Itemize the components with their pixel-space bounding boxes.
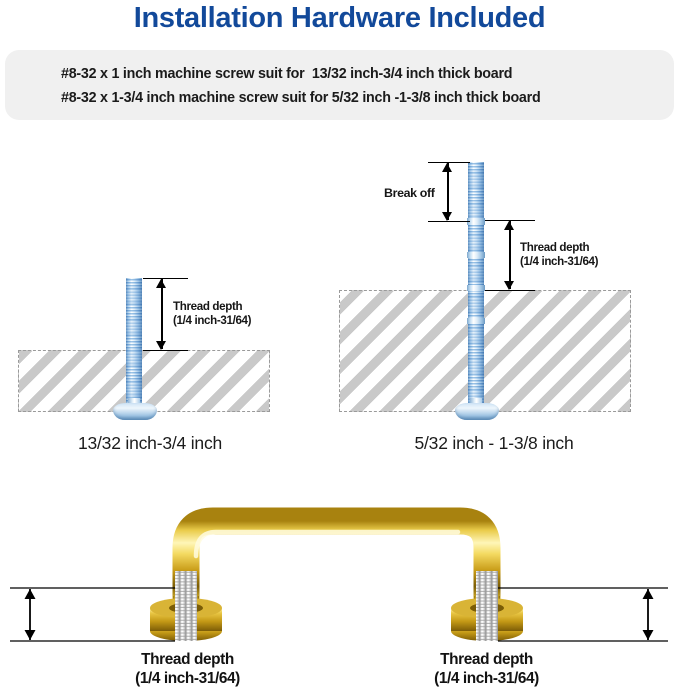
screw-head-left [113,403,157,420]
dim-arrow-up-left [156,279,166,288]
handle-thread-depth-detail-right: (1/4 inch-31/64) [409,669,564,688]
dim-tick-breakoff-bottom [428,221,470,222]
thread-depth-label-left: Thread depth (1/4 inch-31/64) [173,300,251,328]
thread-depth-label-right: Thread depth (1/4 inch-31/64) [520,241,598,269]
handle-bar [186,521,487,612]
dim-arrow-down-right [504,281,514,290]
handle-collar-right [451,621,523,641]
handle-post-left [173,596,199,636]
thread-depth-title-right: Thread depth [520,241,598,255]
handle-dim-arrow-up-right [643,589,654,599]
thread-depth-title-left: Thread depth [173,300,251,314]
handle-collar-body-right [451,608,523,631]
dim-arrow-up-breakoff [442,163,452,172]
handle-dim-arrow-down-left [25,630,36,640]
handle-collar-left [150,621,222,641]
caption-right: 5/32 inch - 1-3/8 inch [349,433,639,454]
handle-collar-top-left [150,598,222,618]
handle-collar-top-right [451,598,523,618]
handle-collar-bore-left [169,603,203,613]
handle-thread-depth-title-left: Thread depth [110,650,265,669]
handle-highlight [196,532,458,556]
handle-thread-depth-right: Thread depth (1/4 inch-31/64) [409,650,564,688]
handle-thread-depth-detail-left: (1/4 inch-31/64) [110,669,265,688]
dim-tick-bottom-left [143,350,188,351]
handle-thread-depth-left: Thread depth (1/4 inch-31/64) [110,650,265,688]
dim-arrow-down-breakoff [442,212,452,221]
dim-line-left [161,279,163,349]
board-cross-section-right [339,290,631,412]
thread-depth-detail-left: (1/4 inch-31/64) [173,314,251,328]
thread-depth-detail-right: (1/4 inch-31/64) [520,255,598,269]
dim-arrow-down-left [156,341,166,350]
breakoff-notch-2 [467,252,485,258]
diagram-long-screw: Break off Thread depth (1/4 inch-31/64) … [339,0,679,470]
screw-thread-left-post [175,571,197,641]
diagram-short-screw: Thread depth (1/4 inch-31/64) 13/32 inch… [0,0,340,470]
handle-dim-arrow-up-left [25,589,36,599]
breakoff-notch-4 [467,318,485,324]
handle-post-right [474,596,500,636]
caption-left: 13/32 inch-3/4 inch [0,433,300,454]
breakoff-notch-3 [467,285,485,291]
handle-thread-depth-title-right: Thread depth [409,650,564,669]
handle-dim-arrow-down-right [643,630,654,640]
dim-tick-bottom-right [485,290,535,291]
screw-head-right [455,403,499,420]
screw-thread-right-post [476,571,498,641]
screw-shaft-left [126,278,142,412]
dim-line-right [509,221,511,289]
handle-collar-bore-right [470,603,504,613]
dim-arrow-up-right [504,221,514,230]
handle-collar-body-left [150,608,222,631]
break-off-label: Break off [384,186,435,200]
